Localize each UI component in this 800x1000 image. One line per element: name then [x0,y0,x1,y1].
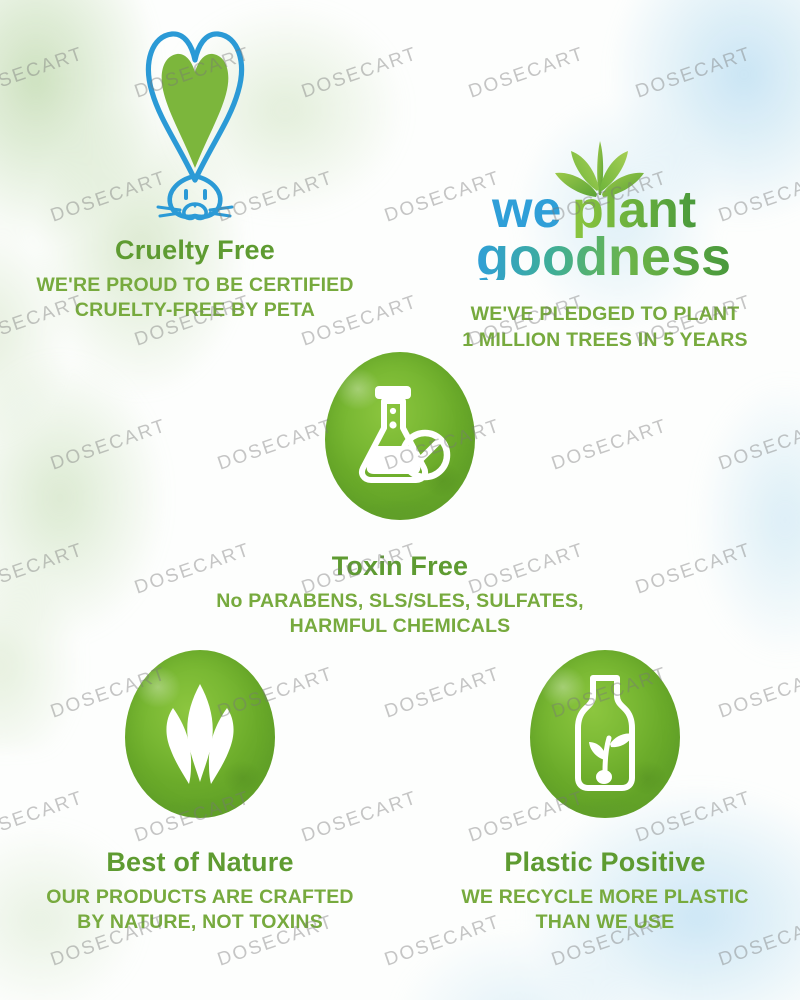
peta-bunny-heart-icon [10,22,380,222]
desc-line: CRUELTY-FREE BY PETA [10,298,380,324]
watercolor-disc [530,650,680,818]
desc-line: No PARABENS, SLS/SLES, SULFATES, [215,589,585,615]
watercolor-disc [125,650,275,818]
badge-description-toxin-free: No PARABENS, SLS/SLES, SULFATES, HARMFUL… [215,589,585,640]
badge-we-plant-goodness: we plant goodness WE'VE PLEDGED TO PLANT… [420,100,790,353]
badge-title-best-of-nature: Best of Nature [15,848,385,878]
infographic-page: Cruelty Free WE'RE PROUD TO BE CERTIFIED… [0,0,800,1000]
desc-line: OUR PRODUCTS ARE CRAFTED [15,885,385,911]
desc-line: BY NATURE, NOT TOXINS [15,910,385,936]
badge-description-plastic-positive: WE RECYCLE MORE PLASTIC THAN WE USE [420,885,790,936]
desc-line: THAN WE USE [420,910,790,936]
logo-word-goodness: goodness [476,227,731,280]
badge-toxin-free: Toxin Free No PARABENS, SLS/SLES, SULFAT… [215,352,585,640]
desc-line: WE'RE PROUD TO BE CERTIFIED [10,273,380,299]
bottle-sprout-icon [557,674,653,794]
badge-cruelty-free: Cruelty Free WE'RE PROUD TO BE CERTIFIED… [10,22,380,324]
watercolor-disc [325,352,475,520]
we-plant-goodness-logo: we plant goodness [420,100,790,280]
badge-description-cruelty-free: WE'RE PROUD TO BE CERTIFIED CRUELTY-FREE… [10,273,380,324]
no-toxin-flask-icon [346,384,454,488]
desc-line: WE'VE PLEDGED TO PLANT [420,302,790,328]
badge-plastic-positive: Plastic Positive WE RECYCLE MORE PLASTIC… [420,650,790,936]
desc-line: 1 MILLION TREES IN 5 YEARS [420,328,790,354]
desc-line: HARMFUL CHEMICALS [215,614,585,640]
badge-title-plastic-positive: Plastic Positive [420,848,790,878]
badge-description-best-of-nature: OUR PRODUCTS ARE CRAFTED BY NATURE, NOT … [15,885,385,936]
badge-title-cruelty-free: Cruelty Free [10,236,380,266]
badge-title-toxin-free: Toxin Free [215,552,585,582]
leaves-icon [150,680,250,788]
badge-description-we-plant-goodness: WE'VE PLEDGED TO PLANT 1 MILLION TREES I… [420,302,790,353]
badge-grid: Cruelty Free WE'RE PROUD TO BE CERTIFIED… [0,0,800,1000]
badge-best-of-nature: Best of Nature OUR PRODUCTS ARE CRAFTED … [15,650,385,936]
desc-line: WE RECYCLE MORE PLASTIC [420,885,790,911]
